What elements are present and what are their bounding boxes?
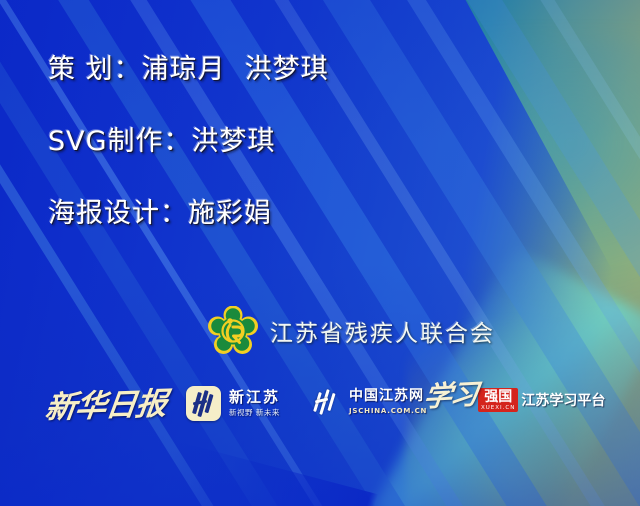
jschina-strokes-icon	[312, 386, 342, 418]
xin-jiangsu-tagline: 新视野 新未来	[229, 409, 280, 417]
credit-line-poster-design: 海报设计：施彩娟	[48, 200, 608, 227]
partner-logo-strip: 新华日报 新江苏 新视野 新未来 中国江苏网	[0, 378, 640, 436]
credits-poster: 策 划：浦琼月 洪梦琪 SVG制作：洪梦琪 海报设计：施彩娟	[0, 0, 640, 506]
partner-logo-xuexi-qiangguo: 学习 强国 XUEXI.CN 江苏学习平台	[424, 382, 605, 414]
xuexi-platform-name: 江苏学习平台	[521, 390, 605, 410]
xuexi-badge-text: 强国	[484, 390, 512, 405]
xin-jiangsu-strokes-icon	[186, 386, 221, 421]
xinhua-daily-wordmark: 新华日报	[43, 378, 169, 427]
xuexi-qiangguo-badge: 强国 XUEXI.CN	[478, 388, 518, 412]
xuexi-wordmark: 学习	[422, 381, 478, 412]
organization-row: 江苏省残疾人联合会	[208, 306, 495, 356]
jschina-domain: JSCHINA.COM.CN	[349, 408, 427, 415]
credit-line-planning: 策 划：浦琼月 洪梦琪	[48, 56, 608, 83]
partner-logo-xinhua-daily: 新华日报	[46, 380, 166, 425]
disabled-persons-federation-flower-icon	[208, 306, 258, 356]
partner-logo-jschina: 中国江苏网 JSCHINA.COM.CN	[312, 386, 427, 418]
credits-block: 策 划：浦琼月 洪梦琪 SVG制作：洪梦琪 海报设计：施彩娟	[48, 56, 608, 272]
partner-logo-xin-jiangsu: 新江苏 新视野 新未来	[186, 386, 280, 421]
xin-jiangsu-name: 新江苏	[229, 390, 280, 405]
credit-line-svg-production: SVG制作：洪梦琪	[48, 128, 608, 155]
xuexi-badge-domain: XUEXI.CN	[481, 406, 515, 412]
jschina-name: 中国江苏网	[349, 389, 427, 403]
organization-name: 江苏省残疾人联合会	[270, 314, 495, 348]
